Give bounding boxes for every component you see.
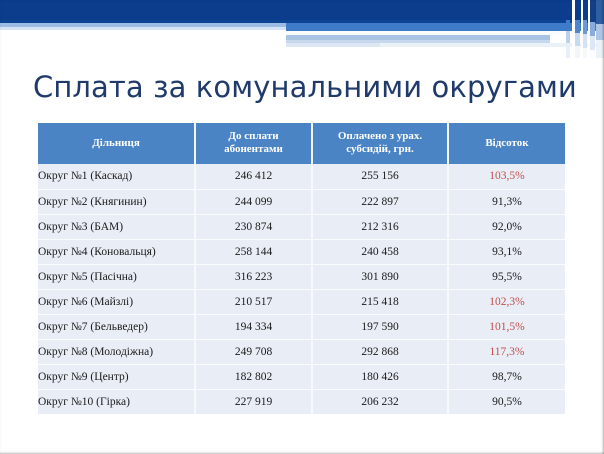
cell-paid: 222 897	[312, 189, 448, 214]
table-row: Округ №2 (Княгинин)244 099222 89791,3%	[38, 189, 565, 214]
cell-district: Округ №5 (Пасічна)	[38, 264, 195, 289]
cell-paid: 212 316	[312, 214, 448, 239]
cell-due: 244 099	[195, 189, 312, 214]
table-row: Округ №6 (Майзлі)210 517215 418102,3%	[38, 289, 565, 314]
header-banner-decoration	[0, 0, 604, 58]
cell-due: 316 223	[195, 264, 312, 289]
banner-navy-bar	[0, 0, 604, 20]
cell-percent: 102,3%	[448, 289, 565, 314]
cell-paid: 215 418	[312, 289, 448, 314]
cell-paid: 255 156	[312, 164, 448, 189]
table-row: Округ №8 (Молодіжна)249 708292 868117,3%	[38, 339, 565, 364]
cell-district: Округ №4 (Коновальця)	[38, 239, 195, 264]
cell-due: 230 874	[195, 214, 312, 239]
banner-vertical-stripe-7	[590, 0, 595, 58]
cell-percent: 98,7%	[448, 364, 565, 389]
column-header-paid-line1: Оплачено з урах.	[338, 130, 422, 142]
column-header-district: Дільниця	[38, 123, 195, 164]
table-row: Округ №3 (БАМ)230 874212 31692,0%	[38, 214, 565, 239]
banner-vertical-stripe-1	[566, 0, 570, 58]
cell-paid: 240 458	[312, 239, 448, 264]
column-header-paid: Оплачено з урах. субсидій, грн.	[312, 123, 448, 164]
cell-percent: 90,5%	[448, 389, 565, 414]
cell-district: Округ №1 (Каскад)	[38, 164, 195, 189]
cell-due: 258 144	[195, 239, 312, 264]
cell-percent: 93,1%	[448, 239, 565, 264]
cell-percent: 117,3%	[448, 339, 565, 364]
cell-paid: 292 868	[312, 339, 448, 364]
cell-district: Округ №8 (Молодіжна)	[38, 339, 195, 364]
cell-due: 194 334	[195, 314, 312, 339]
banner-fade-stripe	[286, 43, 380, 47]
cell-district: Округ №10 (Гірка)	[38, 389, 195, 414]
cell-due: 182 802	[195, 364, 312, 389]
cell-due: 246 412	[195, 164, 312, 189]
banner-vertical-stripe-5	[583, 0, 587, 58]
cell-district: Округ №7 (Бельведер)	[38, 314, 195, 339]
banner-vertical-stripe-3	[575, 0, 580, 58]
column-header-percent: Відсоток	[448, 123, 565, 164]
table-row: Округ №4 (Коновальця)258 144240 45893,1%	[38, 239, 565, 264]
cell-district: Округ №2 (Княгинин)	[38, 189, 195, 214]
cell-paid: 180 426	[312, 364, 448, 389]
column-header-due: До сплати абонентами	[195, 123, 312, 164]
banner-tail-stripe	[380, 43, 604, 47]
cell-district: Округ №9 (Центр)	[38, 364, 195, 389]
table-body: Округ №1 (Каскад)246 412255 156103,5%Окр…	[38, 164, 565, 414]
column-header-due-line1: До сплати	[228, 130, 278, 142]
banner-blue-stripe	[286, 23, 604, 31]
table-row: Округ №9 (Центр)182 802180 42698,7%	[38, 364, 565, 389]
cell-district: Округ №3 (БАМ)	[38, 214, 195, 239]
slide-title: Сплата за комунальними округами	[33, 70, 573, 104]
table-head: Дільниця До сплати абонентами Оплачено з…	[38, 123, 565, 164]
table-row: Округ №1 (Каскад)246 412255 156103,5%	[38, 164, 565, 189]
cell-due: 249 708	[195, 339, 312, 364]
slide-canvas: Сплата за комунальними округами Дільниця…	[0, 0, 604, 454]
cell-percent: 91,3%	[448, 189, 565, 214]
cell-due: 210 517	[195, 289, 312, 314]
table-header-row: Дільниця До сплати абонентами Оплачено з…	[38, 123, 565, 164]
column-header-due-line2: абонентами	[224, 143, 283, 155]
column-header-paid-line2: субсидій, грн.	[346, 143, 413, 155]
cell-percent: 103,5%	[448, 164, 565, 189]
payments-table: Дільниця До сплати абонентами Оплачено з…	[38, 123, 565, 414]
banner-left-pale-stripe	[0, 27, 286, 30]
cell-percent: 92,0%	[448, 214, 565, 239]
column-header-district-line1: Дільниця	[92, 137, 140, 149]
banner-vertical-stripe-8	[596, 0, 604, 58]
cell-paid: 197 590	[312, 314, 448, 339]
cell-paid: 206 232	[312, 389, 448, 414]
table-row: Округ №5 (Пасічна)316 223301 89095,5%	[38, 264, 565, 289]
payments-table-container: Дільниця До сплати абонентами Оплачено з…	[38, 123, 565, 414]
cell-percent: 95,5%	[448, 264, 565, 289]
table-row: Округ №7 (Бельведер)194 334197 590101,5%	[38, 314, 565, 339]
cell-due: 227 919	[195, 389, 312, 414]
cell-percent: 101,5%	[448, 314, 565, 339]
cell-paid: 301 890	[312, 264, 448, 289]
cell-district: Округ №6 (Майзлі)	[38, 289, 195, 314]
column-header-percent-line1: Відсоток	[485, 137, 528, 149]
table-row: Округ №10 (Гірка)227 919206 23290,5%	[38, 389, 565, 414]
